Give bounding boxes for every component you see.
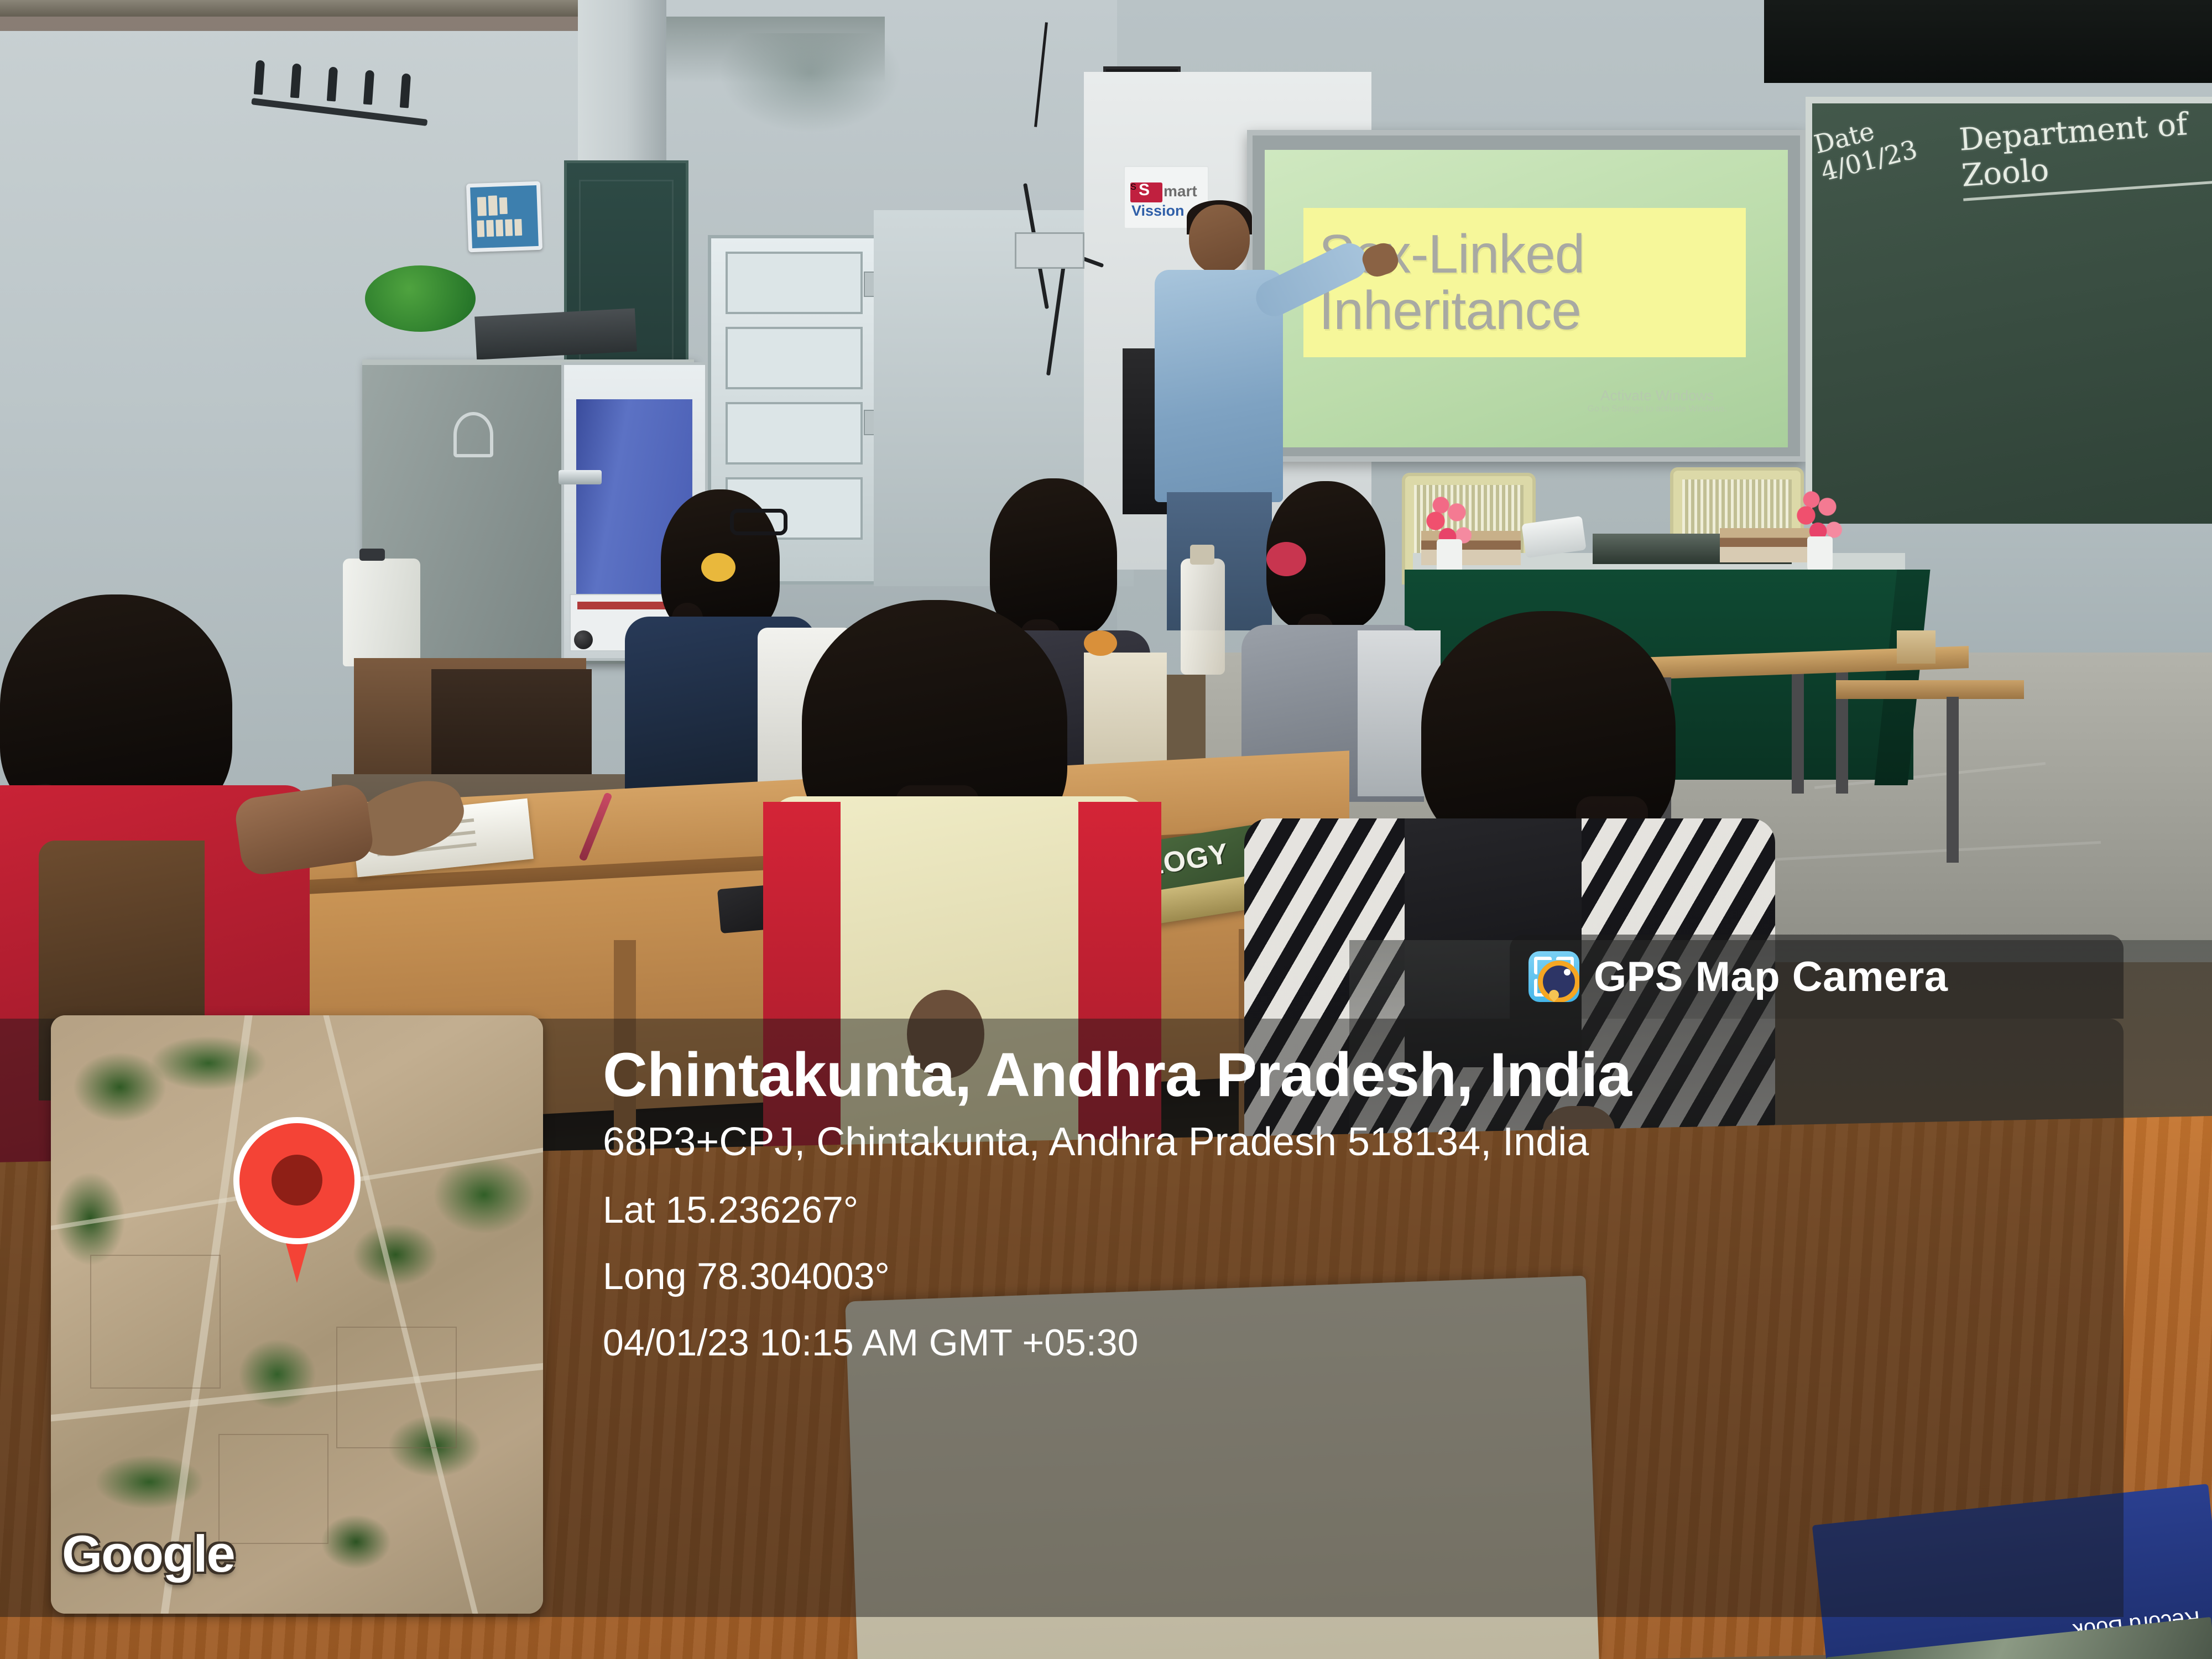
coat-hook [254, 60, 265, 95]
hair-flower [701, 553, 735, 582]
wall-stain-upper [653, 17, 885, 83]
blackboard-top-trim [1764, 0, 2212, 83]
map-parcel [218, 1434, 329, 1544]
door-panel [726, 327, 863, 389]
gps-timestamp: 04/01/23 10:15 AM GMT +05:30 [603, 1322, 2107, 1364]
hair-flower [1084, 630, 1117, 656]
projector-screen: Sex-Linked Inheritance Activate Windows … [1247, 130, 1806, 462]
logo-s-mark: S [1130, 182, 1162, 202]
water-bottle [1181, 559, 1225, 675]
switchboard [1015, 232, 1084, 269]
water-can [343, 559, 420, 666]
gps-app-name: GPS Map Camera [1594, 953, 1948, 1001]
coat-hook-rail [252, 53, 434, 113]
coat-hook [363, 70, 374, 105]
activate-windows-title: Activate Windows [1587, 387, 1727, 404]
gps-app-banner: GPS Map Camera [1510, 935, 2124, 1019]
paper-stack [474, 308, 637, 359]
map-parcel [90, 1255, 220, 1389]
door-panel [726, 252, 863, 314]
green-bag [365, 265, 476, 332]
gps-longitude: Long 78.304003° [603, 1255, 2107, 1297]
activate-windows-watermark: Activate Windows Go to Settings to activ… [1587, 387, 1727, 414]
coat-hook [400, 74, 411, 108]
gps-location-title: Chintakunta, Andhra Pradesh, India [603, 1040, 2107, 1110]
wall-beam [0, 17, 653, 31]
bench-leg [1947, 697, 1959, 863]
activate-windows-subtitle: Go to Settings to activate Windows. [1587, 404, 1727, 414]
side-bench [1836, 680, 2024, 699]
hair-flower [1266, 542, 1306, 576]
cardboard-box [1897, 630, 1936, 664]
bottle-cap [1190, 545, 1214, 565]
screenshot-root: S mart Vission Sex-Linked Inheritance Ac… [0, 0, 2212, 1659]
teacher-head [1189, 205, 1250, 274]
coat-hook [290, 64, 301, 98]
map-parcel [336, 1327, 457, 1448]
map-pin-icon [233, 1117, 361, 1283]
slide-title-line-2: Inheritance [1319, 283, 1746, 339]
coat-hook [327, 67, 338, 102]
slide-surface: Sex-Linked Inheritance Activate Windows … [1265, 150, 1788, 447]
cabinet-latch-icon [453, 412, 493, 457]
logo-mart-text: mart [1164, 182, 1197, 200]
google-watermark: Google [62, 1524, 234, 1584]
oven-knob [574, 630, 593, 649]
slide-title-box: Sex-Linked Inheritance [1303, 208, 1746, 357]
eyeglasses-icon [730, 509, 787, 535]
gps-map-camera-icon [1528, 951, 1579, 1002]
door-panel [726, 402, 863, 465]
gps-info-text: Chintakunta, Andhra Pradesh, India 68P3+… [603, 1040, 2107, 1364]
oven-handle [559, 470, 602, 484]
gps-address: 68P3+CPJ, Chintakunta, Andhra Pradesh 51… [603, 1119, 2107, 1165]
map-thumbnail[interactable]: Google [51, 1015, 543, 1614]
gps-latitude: Lat 15.236267° [603, 1189, 2107, 1231]
wall-sign [466, 181, 542, 253]
table-leg [1792, 672, 1804, 794]
